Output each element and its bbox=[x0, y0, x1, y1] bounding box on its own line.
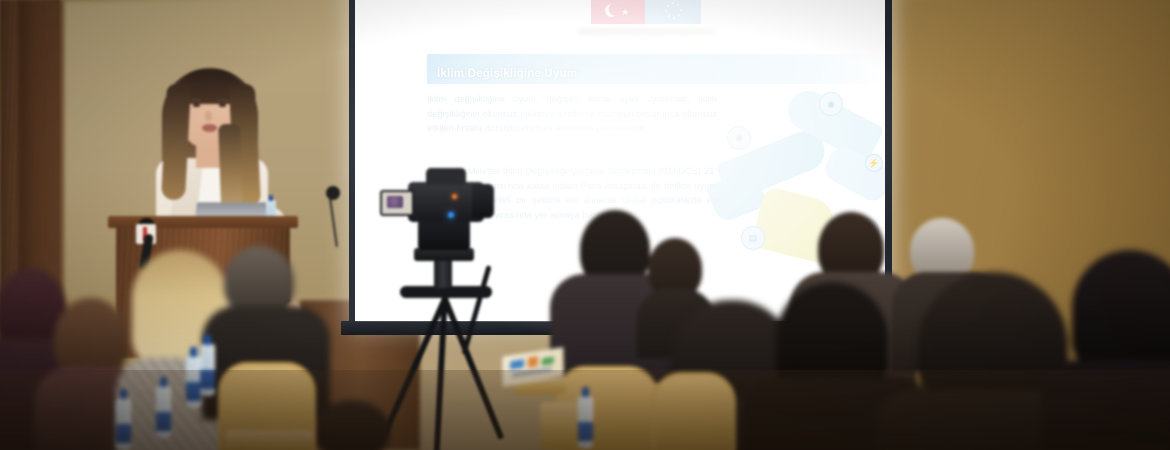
camera-lens bbox=[472, 184, 494, 218]
slide-title-bar: İklim Değişikliğine Uyum bbox=[427, 54, 883, 84]
energy-badge-icon: ⚡ bbox=[865, 154, 883, 172]
hand-right-forearm bbox=[820, 143, 885, 206]
speaker-eyebrow-right bbox=[218, 99, 228, 101]
tripod-pan-handle bbox=[461, 265, 491, 355]
tripod-center-column bbox=[434, 260, 452, 288]
carpet-floor bbox=[0, 370, 1170, 450]
lcd-preview-image bbox=[387, 196, 403, 208]
camera-grip bbox=[418, 220, 470, 250]
slide-title-text: İklim Değişikliğine Uyum bbox=[427, 68, 577, 84]
brochure-graphic-blue bbox=[510, 359, 524, 369]
eu-stars-ring bbox=[664, 2, 682, 20]
brochure-graphic-green bbox=[542, 357, 554, 366]
camera-record-led-orange bbox=[452, 194, 457, 199]
speaker-eye-left bbox=[193, 104, 200, 107]
camera-lcd-screen bbox=[380, 190, 414, 216]
globe-badge-icon: ◉ bbox=[819, 92, 843, 116]
camera-viewfinder-hood bbox=[426, 168, 466, 185]
turkey-flag-icon: ★ bbox=[591, 0, 645, 24]
brochure-graphic-orange bbox=[528, 356, 538, 368]
slide-header-flags: ★ bbox=[591, 0, 701, 24]
conference-room-photo: ★ İklim Değişikliğine Uyum İklim değişik… bbox=[0, 0, 1170, 450]
leaf-badge-icon: ❀ bbox=[727, 126, 751, 150]
slide-paragraph-1: İklim değişikliğine uyum, değişen iklime… bbox=[427, 92, 717, 136]
podium-microphone bbox=[326, 186, 340, 200]
audience-head bbox=[1072, 250, 1170, 376]
crescent-shape bbox=[603, 2, 619, 18]
star-shape: ★ bbox=[621, 8, 629, 17]
speaker-eye-right bbox=[219, 104, 226, 107]
camera-status-led-blue bbox=[448, 212, 454, 218]
european-union-flag-icon bbox=[645, 0, 701, 24]
slide-header-caption-blur bbox=[579, 28, 715, 35]
speaker-eyebrow-left bbox=[191, 99, 201, 101]
speaker-nose bbox=[205, 111, 212, 121]
factory-badge-icon: ▤ bbox=[741, 226, 765, 250]
speaker-mouth bbox=[202, 124, 217, 132]
